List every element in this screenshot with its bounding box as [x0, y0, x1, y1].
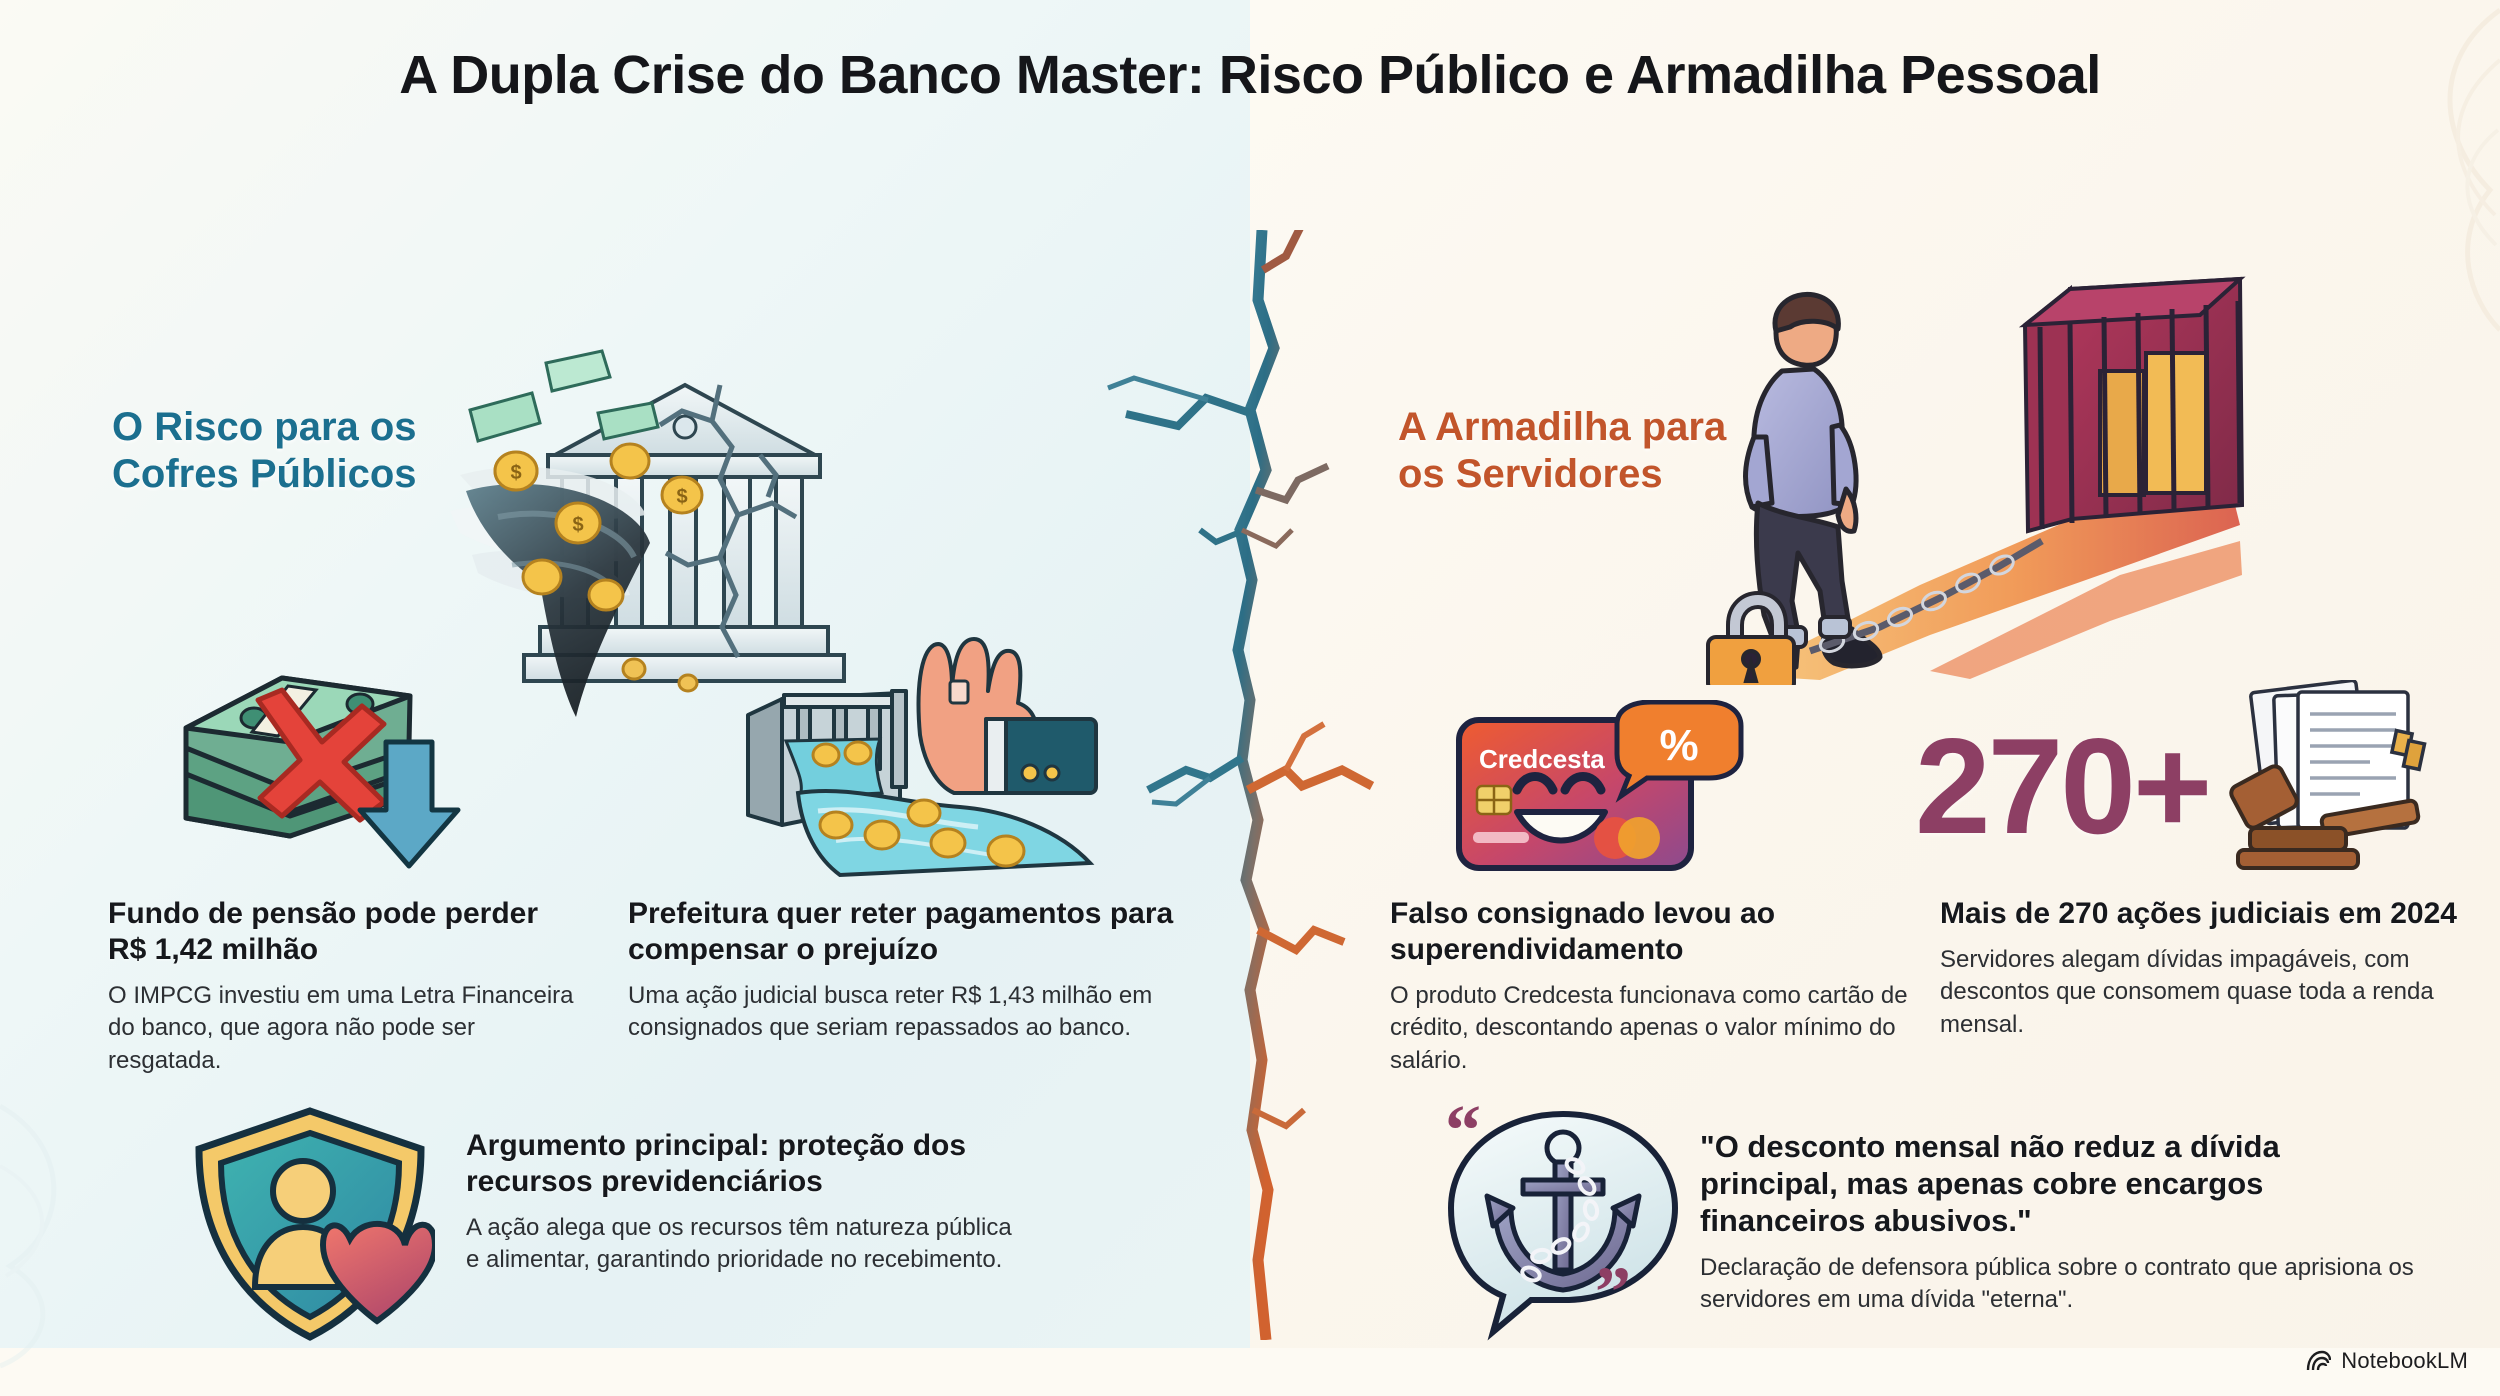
infographic-canvas: A Dupla Crise do Banco Master: Risco Púb…	[0, 0, 2500, 1396]
svg-text:$: $	[676, 486, 687, 508]
svg-text:”: ”	[1595, 1252, 1631, 1332]
fact-heading: Mais de 270 ações judiciais em 2024	[1940, 896, 2460, 932]
dam-coins-stop-hand-icon	[740, 635, 1150, 890]
quote-attribution: Declaração de defensora pública sobre o …	[1700, 1252, 2420, 1317]
fact-block-fundo-pensao: Fundo de pensão pode perder R$ 1,42 milh…	[108, 896, 578, 1077]
shield-person-heart-icon	[185, 1105, 435, 1345]
bottom-strip-background	[0, 1348, 2500, 1396]
fact-body: O produto Credcesta funcionava como cart…	[1390, 980, 1930, 1077]
money-stack-x-down-arrow-icon	[170, 670, 480, 880]
right-section-heading: A Armadilha para os Servidores	[1398, 404, 1818, 498]
left-heading-line1: O Risco para os	[112, 404, 532, 451]
fact-heading: Prefeitura quer reter pagamentos para co…	[628, 896, 1228, 968]
stat-270-plus: 270+	[1915, 718, 2209, 854]
fact-body: O IMPCG investiu em uma Letra Financeira…	[108, 980, 578, 1077]
fact-heading: Argumento principal: proteção dos recurs…	[466, 1128, 1026, 1200]
fact-block-acoes-judiciais: Mais de 270 ações judiciais em 2024 Serv…	[1940, 896, 2460, 1041]
fact-body: Uma ação judicial busca reter R$ 1,43 mi…	[628, 980, 1228, 1045]
fact-heading: Falso consignado levou ao superendividam…	[1390, 896, 1930, 968]
left-section-heading: O Risco para os Cofres Públicos	[112, 404, 532, 498]
credit-card-brand-label: Credcesta	[1479, 744, 1605, 774]
right-heading-line1: A Armadilha para	[1398, 404, 1818, 451]
speech-bubble-anchor-chain-icon: “ ”	[1435, 1100, 1695, 1345]
fact-block-prefeitura: Prefeitura quer reter pagamentos para co…	[628, 896, 1228, 1045]
legal-documents-gavel-icon	[2210, 680, 2460, 880]
fact-block-falso-consignado: Falso consignado levou ao superendividam…	[1390, 896, 1930, 1077]
watermark-label: NotebookLM	[2341, 1348, 2468, 1374]
svg-text:“: “	[1445, 1100, 1481, 1170]
fact-block-argumento-principal: Argumento principal: proteção dos recurs…	[466, 1128, 1026, 1277]
notebooklm-logo-icon	[2305, 1349, 2331, 1373]
right-heading-line2: os Servidores	[1398, 451, 1818, 498]
fact-heading: Fundo de pensão pode perder R$ 1,42 milh…	[108, 896, 578, 968]
notebooklm-watermark: NotebookLM	[2305, 1348, 2468, 1374]
page-title: A Dupla Crise do Banco Master: Risco Púb…	[0, 44, 2500, 106]
svg-text:$: $	[572, 514, 583, 536]
quote-text: "O desconto mensal não reduz a dívida pr…	[1700, 1128, 2420, 1240]
fact-body: A ação alega que os recursos têm naturez…	[466, 1212, 1026, 1277]
fact-body: Servidores alegam dívidas impagáveis, co…	[1940, 944, 2460, 1041]
left-heading-line2: Cofres Públicos	[112, 451, 532, 498]
fact-block-quote-defensora: "O desconto mensal não reduz a dívida pr…	[1700, 1128, 2420, 1316]
percent-badge-label: %	[1659, 721, 1698, 770]
credcesta-credit-card-icon: Credcesta %	[1455, 700, 1745, 875]
